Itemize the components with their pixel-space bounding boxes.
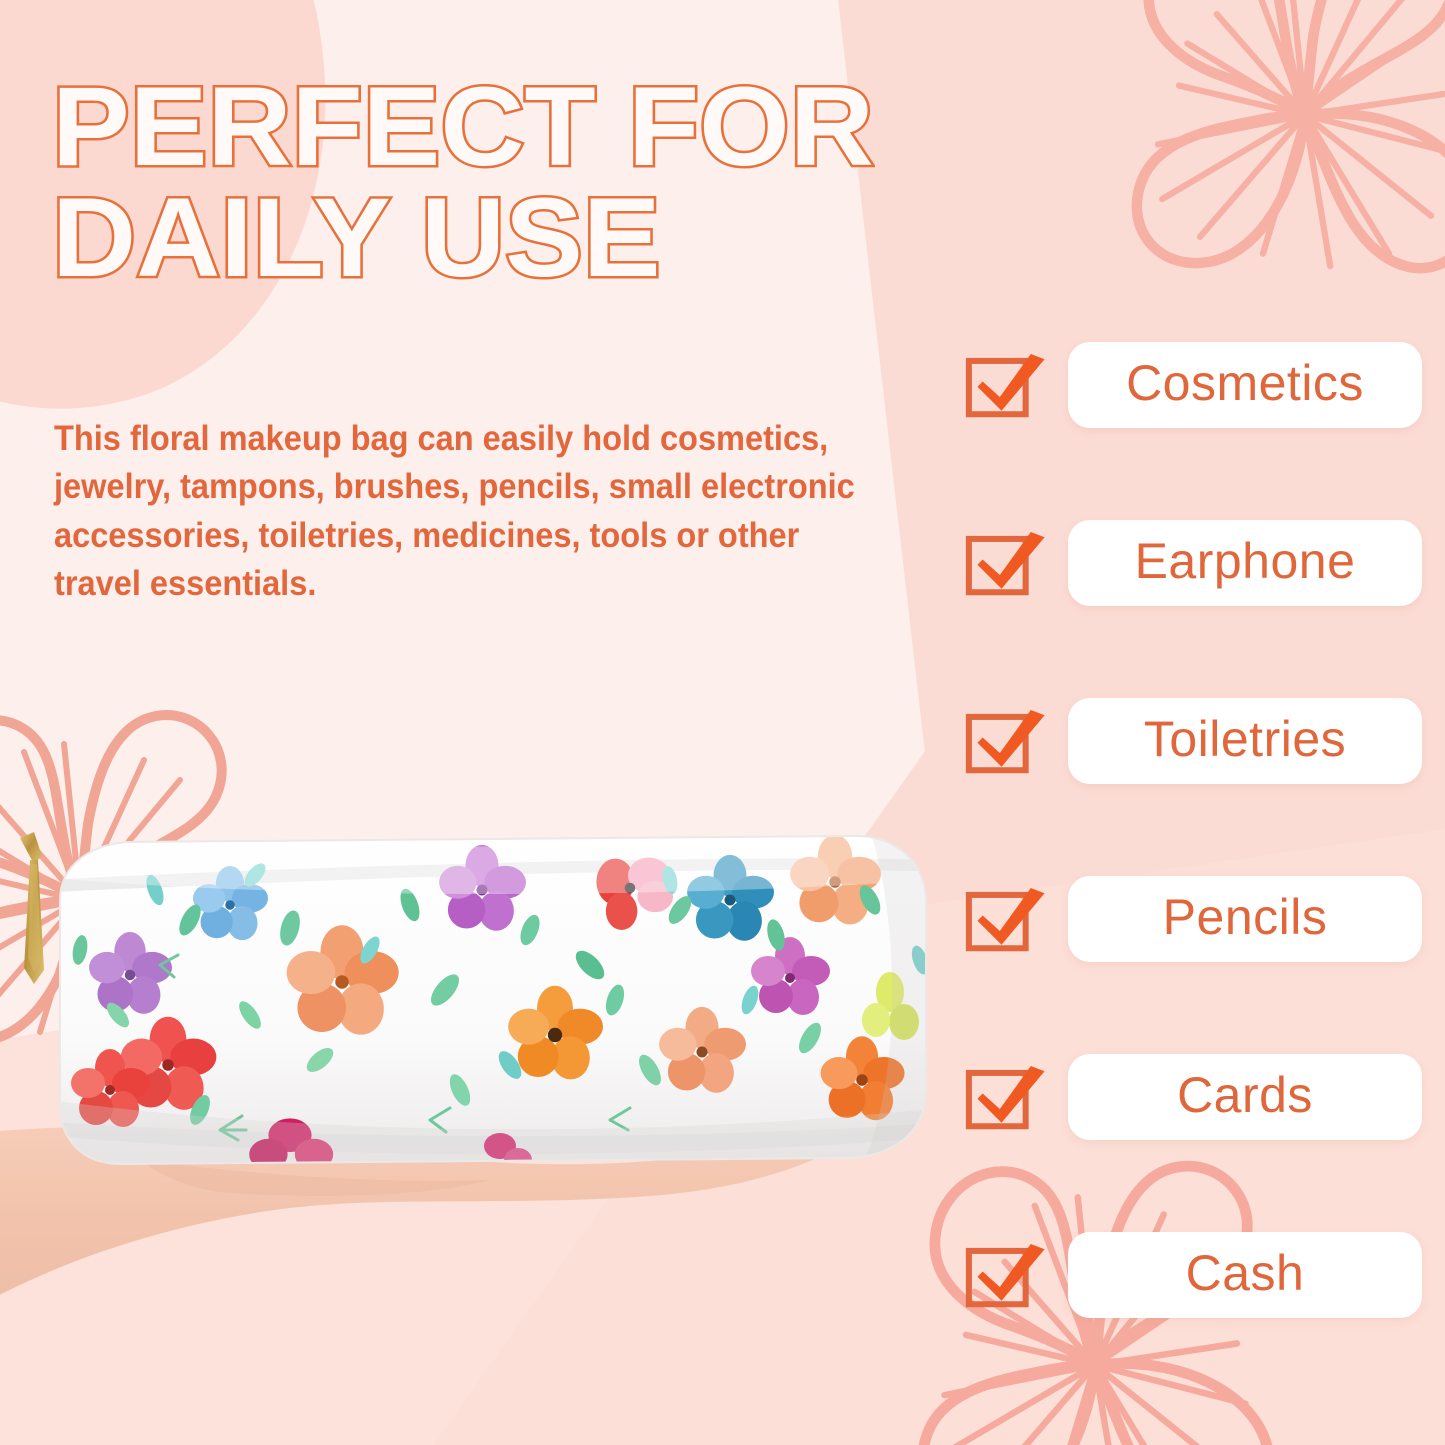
infographic-canvas: PERFECT FOR DAILY USE This floral makeup… [0,0,1445,1445]
checklist-pill[interactable]: Cash [1068,1232,1422,1318]
checklist-label: Pencils [1163,892,1328,946]
checklist-label: Cash [1186,1248,1305,1302]
product-image [0,760,980,1320]
checkbox-checked-icon[interactable] [962,520,1048,606]
checklist-row-pencils[interactable]: Pencils [962,864,1422,974]
checkbox-checked-icon[interactable] [962,876,1048,962]
checklist-label: Earphone [1135,536,1356,590]
checkbox-checked-icon[interactable] [962,1232,1048,1318]
checklist-pill[interactable]: Cosmetics [1068,342,1422,428]
checklist-label: Cards [1177,1070,1313,1124]
checkbox-checked-icon[interactable] [962,698,1048,784]
description-text: This floral makeup bag can easily hold c… [54,415,891,608]
checklist-pill[interactable]: Cards [1068,1054,1422,1140]
checkbox-checked-icon[interactable] [962,342,1048,428]
checklist-row-cards[interactable]: Cards [962,1042,1422,1152]
checklist-label: Cosmetics [1126,358,1364,412]
checklist-row-toiletries[interactable]: Toiletries [962,686,1422,796]
checklist-label: Toiletries [1144,714,1346,768]
checklist-row-cash[interactable]: Cash [962,1220,1422,1330]
feature-checklist: Cosmetics Earphone Toiletr [962,330,1422,1330]
checklist-row-earphone[interactable]: Earphone [962,508,1422,618]
page-title: PERFECT FOR DAILY USE [52,72,1030,294]
checklist-row-cosmetics[interactable]: Cosmetics [962,330,1422,440]
checklist-pill[interactable]: Earphone [1068,520,1422,606]
checklist-pill[interactable]: Toiletries [1068,698,1422,784]
checklist-pill[interactable]: Pencils [1068,876,1422,962]
makeup-bag [50,830,940,1172]
zipper-pull [20,832,44,984]
checkbox-checked-icon[interactable] [962,1054,1048,1140]
